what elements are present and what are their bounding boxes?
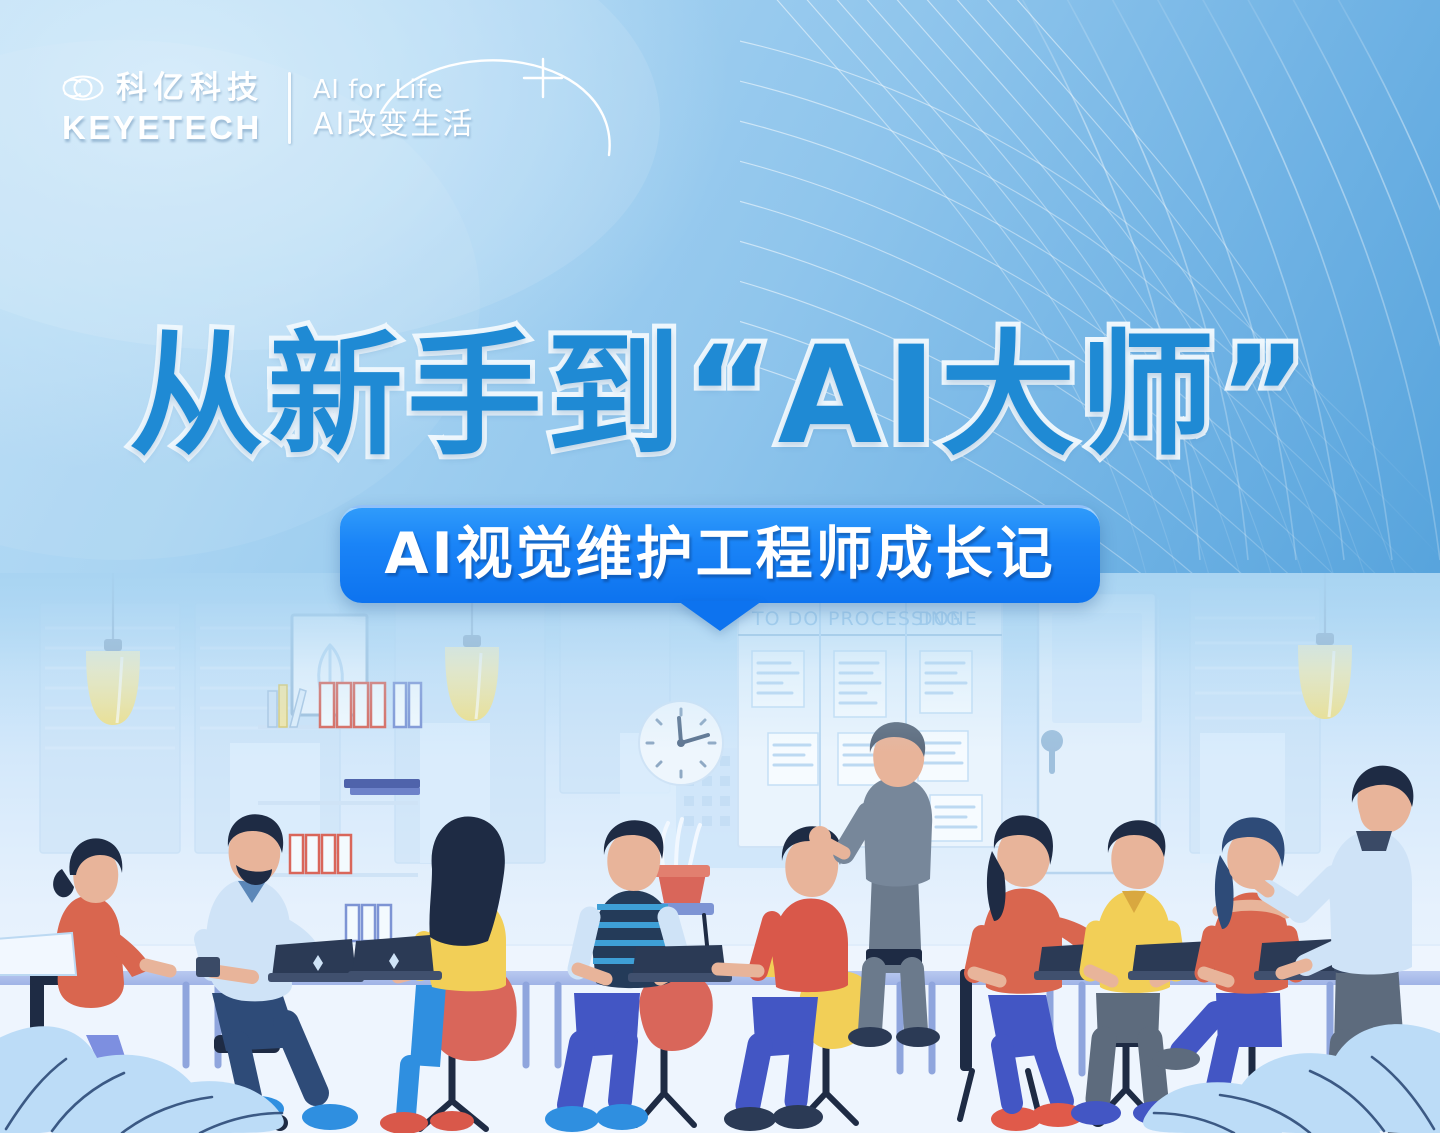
laptop-mid-left: [348, 935, 442, 980]
ribbon-pointer-icon: [678, 601, 762, 631]
logo-divider: [288, 72, 291, 144]
subtitle-text: AI视觉维护工程师成长记: [384, 526, 1055, 583]
banner-canvas: 科亿科技 KEYETECH AI for Life AI改变生活 从新手到“AI…: [0, 0, 1440, 1133]
brand-logo[interactable]: 科亿科技 KEYETECH AI for Life AI改变生活: [62, 72, 474, 144]
eye-lens-icon: [62, 73, 104, 103]
subtitle-ribbon: AI视觉维护工程师成长记: [340, 505, 1099, 603]
logo-company-cn: 科亿科技: [116, 73, 264, 104]
headline-part1: 从新手到: [129, 328, 685, 463]
laptop-white: [0, 933, 76, 975]
logo-primary: 科亿科技 KEYETECH: [62, 73, 264, 144]
page-title: 从新手到“AI大师”: [0, 328, 1440, 463]
headline-quote-close: ”: [1218, 328, 1311, 463]
wall-clock: [639, 701, 723, 785]
logo-company-en: KEYETECH: [62, 111, 264, 144]
office-illustration: TO DO PROCESSING DONE: [0, 573, 1440, 1133]
headline-part2: AI大师: [778, 328, 1219, 463]
subtitle-ribbon-wrap: AI视觉维护工程师成长记: [0, 505, 1440, 603]
headline-quote-open: “: [685, 328, 778, 463]
arc-swoosh-sparkle-icon: [373, 51, 653, 171]
kanban-col-done: DONE: [918, 608, 978, 630]
binder-row: [320, 683, 421, 727]
logo-tagline: AI for Life AI改变生活: [313, 77, 474, 140]
coffee-mug-left: [196, 957, 220, 977]
